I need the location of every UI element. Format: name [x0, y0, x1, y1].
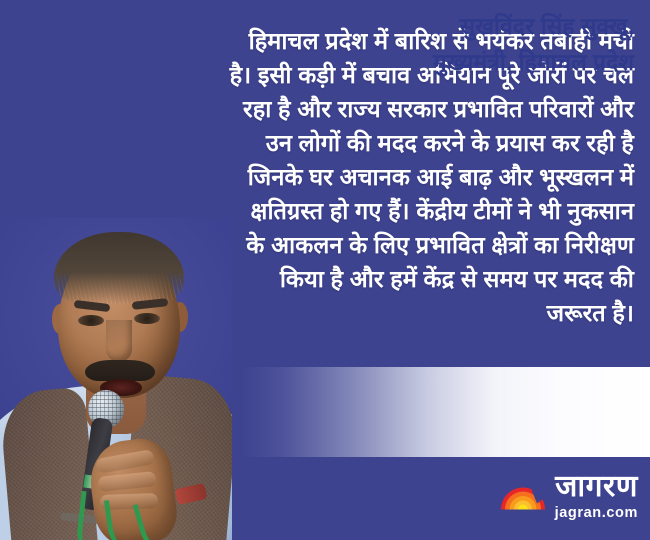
- logo-domain: jagran.com: [555, 504, 638, 522]
- attribution-designation: मुख्यमंत्री, हिमाचल प्रदेश: [254, 44, 634, 80]
- eye-left: [78, 315, 104, 326]
- attribution-band: [242, 367, 650, 457]
- quote-line: रहा है और राज्य सरकार प्रभावित परिवारों …: [172, 92, 634, 126]
- nose: [106, 320, 132, 362]
- quote-line: जरूरत है।: [172, 296, 634, 330]
- attribution-text: सुखविंदर सिंह सुक्खू, मुख्यमंत्री, हिमाच…: [254, 8, 634, 80]
- sunrise-icon: [500, 482, 546, 512]
- quote-line: के आकलन के लिए प्रभावित क्षेत्रों का निर…: [172, 228, 634, 262]
- eye-right: [134, 313, 160, 324]
- quote-card: हिमाचल प्रदेश में बारिश से भयंकर तबाही म…: [0, 0, 650, 540]
- cable: [75, 491, 109, 540]
- logo-wordmark-group: जागरण jagran.com: [555, 472, 638, 522]
- quote-line: उन लोगों की मदद करने के प्रयास कर रही है: [172, 126, 634, 160]
- jagran-logo[interactable]: जागरण jagran.com: [500, 472, 638, 522]
- quote-line: जिनके घर अचानक आई बाढ़ और भूस्खलन में: [172, 160, 634, 194]
- quote-line: किया है और हमें केंद्र से समय पर मदद की: [172, 262, 634, 296]
- attribution-name: सुखविंदर सिंह सुक्खू,: [254, 8, 634, 44]
- logo-hindi-wordmark: जागरण: [555, 472, 638, 502]
- quote-line: क्षतिग्रस्त हो गए हैं। केंद्रीय टीमों ने…: [172, 194, 634, 228]
- moustache: [85, 360, 155, 381]
